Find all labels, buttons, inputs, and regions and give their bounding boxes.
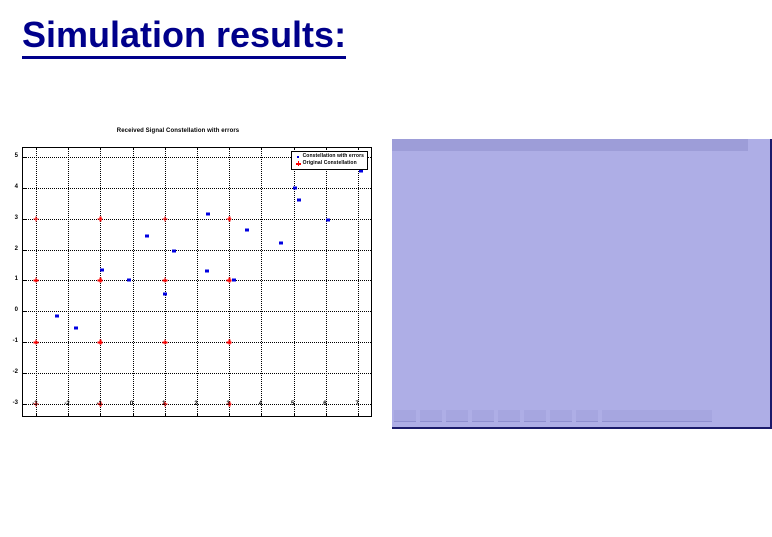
taskbar-button <box>576 410 598 422</box>
screenshot-placeholder-panel <box>392 139 772 429</box>
data-point-errors <box>297 199 301 202</box>
data-point-errors <box>293 187 297 190</box>
y-axis-label: 3 <box>7 215 18 221</box>
y-axis-tick <box>22 188 26 189</box>
x-axis-label: 5 <box>291 401 294 407</box>
y-axis-tick <box>22 373 26 374</box>
x-axis-label: -2 <box>64 401 69 407</box>
red-plus-icon <box>294 161 303 166</box>
x-axis-tick <box>68 413 69 417</box>
y-axis-tick <box>22 404 26 405</box>
taskbar-button <box>420 410 442 422</box>
data-point-errors <box>100 268 104 271</box>
data-point-errors <box>172 250 176 253</box>
x-axis-tick <box>165 413 166 417</box>
blue-dot-icon <box>294 156 303 158</box>
chart-legend: Constellation with errors Original Const… <box>291 151 368 170</box>
y-axis-label: 4 <box>7 184 18 190</box>
grid-line-horizontal <box>23 373 371 374</box>
taskbar-button <box>472 410 494 422</box>
x-axis-label: 0 <box>130 401 133 407</box>
y-axis-label: 1 <box>7 276 18 282</box>
data-point-errors <box>206 213 210 216</box>
x-axis-tick <box>100 413 101 417</box>
y-axis-label: 2 <box>7 246 18 252</box>
data-point-original <box>227 340 232 345</box>
x-axis-label: -1 <box>97 401 102 407</box>
x-axis-tick <box>294 413 295 417</box>
x-axis-tick <box>326 413 327 417</box>
x-axis-label: 4 <box>259 401 262 407</box>
data-point-original <box>162 216 167 221</box>
x-axis-label: 3 <box>227 401 230 407</box>
data-point-original <box>162 278 167 283</box>
grid-line-horizontal <box>23 219 371 220</box>
grid-line-horizontal <box>23 188 371 189</box>
data-point-original <box>162 340 167 345</box>
page-title: Simulation results: <box>22 16 346 59</box>
constellation-figure: Received Signal Constellation with error… <box>8 128 382 433</box>
data-point-original <box>33 340 38 345</box>
data-point-errors <box>279 242 283 245</box>
data-point-errors <box>145 234 149 237</box>
data-point-original <box>98 216 103 221</box>
placeholder-titlebar <box>392 139 748 151</box>
data-point-errors <box>163 293 167 296</box>
x-axis-label: 1 <box>162 401 165 407</box>
y-axis-tick <box>22 219 26 220</box>
taskbar-button <box>524 410 546 422</box>
data-point-original <box>98 340 103 345</box>
grid-line-horizontal <box>23 280 371 281</box>
data-point-errors <box>232 279 236 282</box>
grid-line-horizontal <box>23 311 371 312</box>
x-axis-tick <box>133 413 134 417</box>
x-axis-label: 7 <box>355 401 358 407</box>
taskbar-button <box>602 410 712 422</box>
x-axis-tick <box>261 413 262 417</box>
taskbar-button <box>394 410 416 422</box>
data-point-original <box>98 278 103 283</box>
taskbar-button <box>446 410 468 422</box>
data-point-errors <box>74 327 78 330</box>
data-point-original <box>227 216 232 221</box>
placeholder-body <box>392 151 770 405</box>
data-point-errors <box>245 228 249 231</box>
y-axis-tick <box>22 250 26 251</box>
chart-title: Received Signal Constellation with error… <box>0 128 365 134</box>
legend-label-errors: Constellation with errors <box>303 153 364 160</box>
taskbar-button <box>550 410 572 422</box>
plot-area: Constellation with errors Original Const… <box>22 147 372 417</box>
placeholder-taskbar <box>392 405 770 427</box>
x-axis-label: 6 <box>323 401 326 407</box>
y-axis-tick <box>22 311 26 312</box>
legend-item-errors: Constellation with errors <box>294 153 364 160</box>
y-axis-label: -2 <box>7 369 18 375</box>
y-axis-label: -3 <box>7 400 18 406</box>
legend-item-original: Original Constellation <box>294 160 364 167</box>
data-point-errors <box>205 270 209 273</box>
legend-label-original: Original Constellation <box>303 160 357 167</box>
y-axis-tick <box>22 157 26 158</box>
x-axis-tick <box>36 413 37 417</box>
data-point-errors <box>326 219 330 222</box>
x-axis-label: 2 <box>194 401 197 407</box>
data-point-errors <box>55 314 59 317</box>
page-title-text: Simulation results: <box>22 16 346 59</box>
data-point-original <box>33 278 38 283</box>
data-point-errors <box>359 170 363 173</box>
x-axis-tick <box>358 413 359 417</box>
grid-line-horizontal <box>23 250 371 251</box>
data-point-errors <box>127 279 131 282</box>
y-axis-label: 5 <box>7 153 18 159</box>
y-axis-label: -1 <box>7 338 18 344</box>
data-point-original <box>33 216 38 221</box>
taskbar-button <box>498 410 520 422</box>
grid-line-horizontal <box>23 342 371 343</box>
y-axis-tick <box>22 342 26 343</box>
y-axis-tick <box>22 280 26 281</box>
x-axis-label: -3 <box>32 401 37 407</box>
x-axis-tick <box>229 413 230 417</box>
y-axis-label: 0 <box>7 307 18 313</box>
x-axis-tick <box>197 413 198 417</box>
data-point-original <box>227 278 232 283</box>
